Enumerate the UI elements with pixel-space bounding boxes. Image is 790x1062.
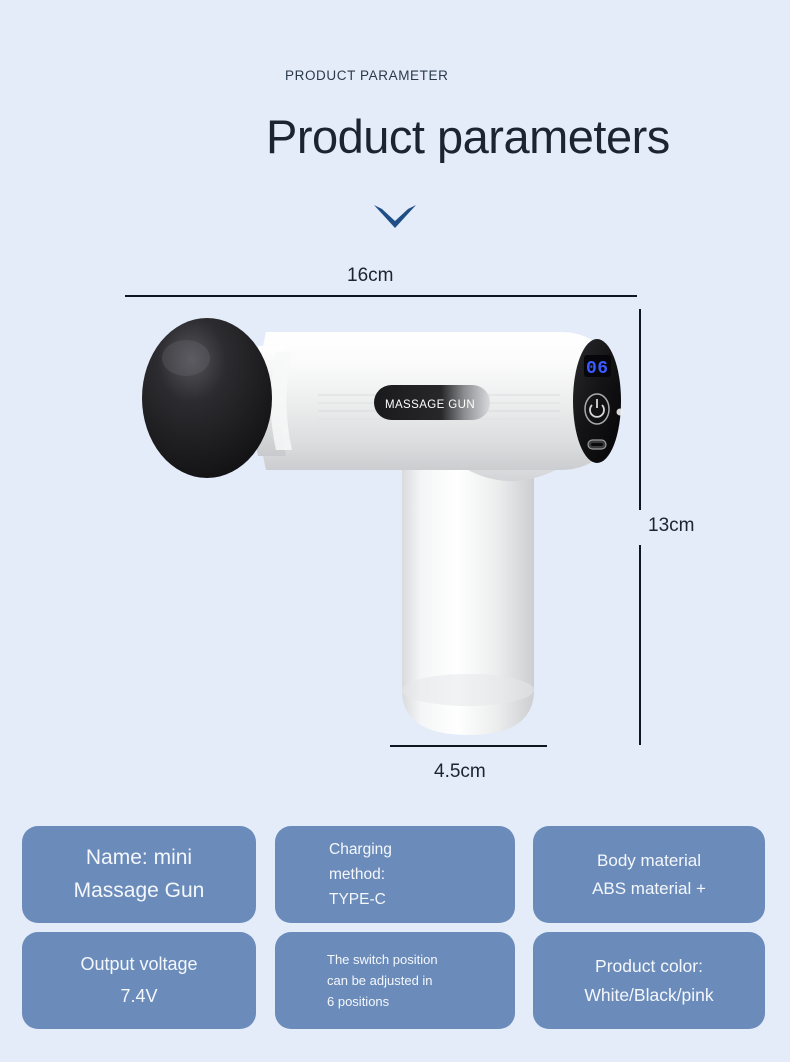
card-name: Name: mini Massage Gun bbox=[22, 826, 256, 923]
height-dimension-label: 13cm bbox=[648, 515, 694, 537]
card-output-voltage: Output voltage 7.4V bbox=[22, 932, 256, 1029]
height-dimension-line-upper bbox=[639, 309, 641, 510]
display-value-text: 06 bbox=[586, 359, 609, 379]
card-material-line-2: ABS material + bbox=[592, 875, 706, 903]
card-name-line-1: Name: mini bbox=[86, 842, 192, 875]
card-switch-positions: The switch position can be adjusted in 6… bbox=[275, 932, 515, 1029]
card-switch-line-2: can be adjusted in bbox=[327, 970, 433, 991]
depth-dimension-line bbox=[390, 745, 547, 747]
power-button-icon bbox=[585, 394, 609, 424]
card-voltage-line-1: Output voltage bbox=[80, 949, 197, 981]
card-charging-method: Charging method: TYPE-C bbox=[275, 826, 515, 923]
eyebrow-label: PRODUCT PARAMETER bbox=[285, 68, 448, 83]
card-charging-line-1: Charging bbox=[329, 837, 392, 862]
product-parameter-page: PRODUCT PARAMETER Product parameters bbox=[0, 0, 790, 1062]
usb-c-port-icon bbox=[588, 440, 606, 449]
card-charging-line-3: TYPE-C bbox=[329, 887, 386, 912]
depth-dimension-label: 4.5cm bbox=[434, 761, 486, 783]
card-color-line-1: Product color: bbox=[595, 952, 703, 980]
card-name-line-2: Massage Gun bbox=[74, 875, 205, 908]
page-title: Product parameters bbox=[266, 113, 670, 160]
card-charging-line-2: method: bbox=[329, 862, 385, 887]
card-product-color: Product color: White/Black/pink bbox=[533, 932, 765, 1029]
card-switch-line-1: The switch position bbox=[327, 949, 438, 970]
brand-badge-text: MASSAGE GUN bbox=[385, 399, 475, 411]
width-dimension-label: 16cm bbox=[347, 265, 393, 287]
card-switch-line-3: 6 positions bbox=[327, 991, 389, 1012]
spec-card-grid: Name: mini Massage Gun Charging method: … bbox=[0, 826, 790, 1036]
card-voltage-line-2: 7.4V bbox=[120, 981, 157, 1013]
width-dimension-line bbox=[125, 295, 637, 297]
chevron-down-icon bbox=[372, 202, 418, 232]
card-material-line-1: Body material bbox=[597, 847, 701, 875]
card-body-material: Body material ABS material + bbox=[533, 826, 765, 923]
height-dimension-line-lower bbox=[639, 545, 641, 745]
card-color-line-2: White/Black/pink bbox=[584, 981, 713, 1009]
